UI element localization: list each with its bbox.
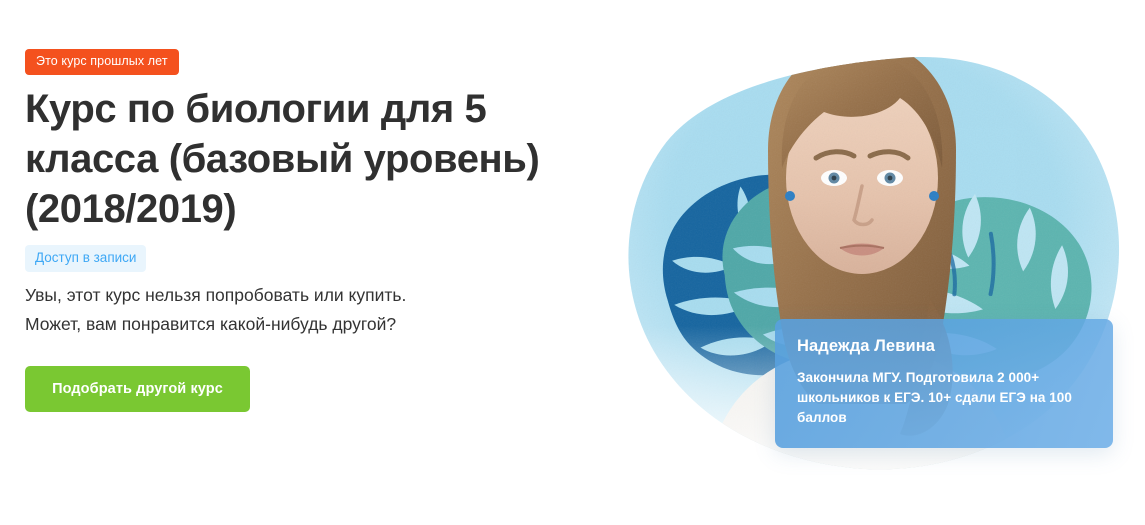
teacher-info-card: Надежда Левина Закончила МГУ. Подготовил… (775, 319, 1113, 448)
page-title: Курс по биологии для 5 класса (базовый у… (25, 84, 625, 234)
course-hero-page: Это курс прошлых лет Курс по биологии дл… (0, 0, 1145, 525)
unavailable-notice: Увы, этот курс нельзя попробовать или ку… (25, 281, 585, 339)
unavailable-notice-line-2: Может, вам понравится какой-нибудь друго… (25, 310, 585, 339)
hero-illustration: Надежда Левина Закончила МГУ. Подготовил… (600, 0, 1145, 525)
teacher-name: Надежда Левина (797, 337, 1091, 357)
course-info-column: Это курс прошлых лет Курс по биологии дл… (25, 0, 625, 525)
status-badge-access: Доступ в записи (25, 245, 146, 272)
status-badge-archive: Это курс прошлых лет (25, 49, 179, 75)
find-another-course-button[interactable]: Подобрать другой курс (25, 366, 250, 412)
teacher-bio: Закончила МГУ. Подготовила 2 000+ школьн… (797, 368, 1091, 428)
unavailable-notice-line-1: Увы, этот курс нельзя попробовать или ку… (25, 281, 585, 310)
